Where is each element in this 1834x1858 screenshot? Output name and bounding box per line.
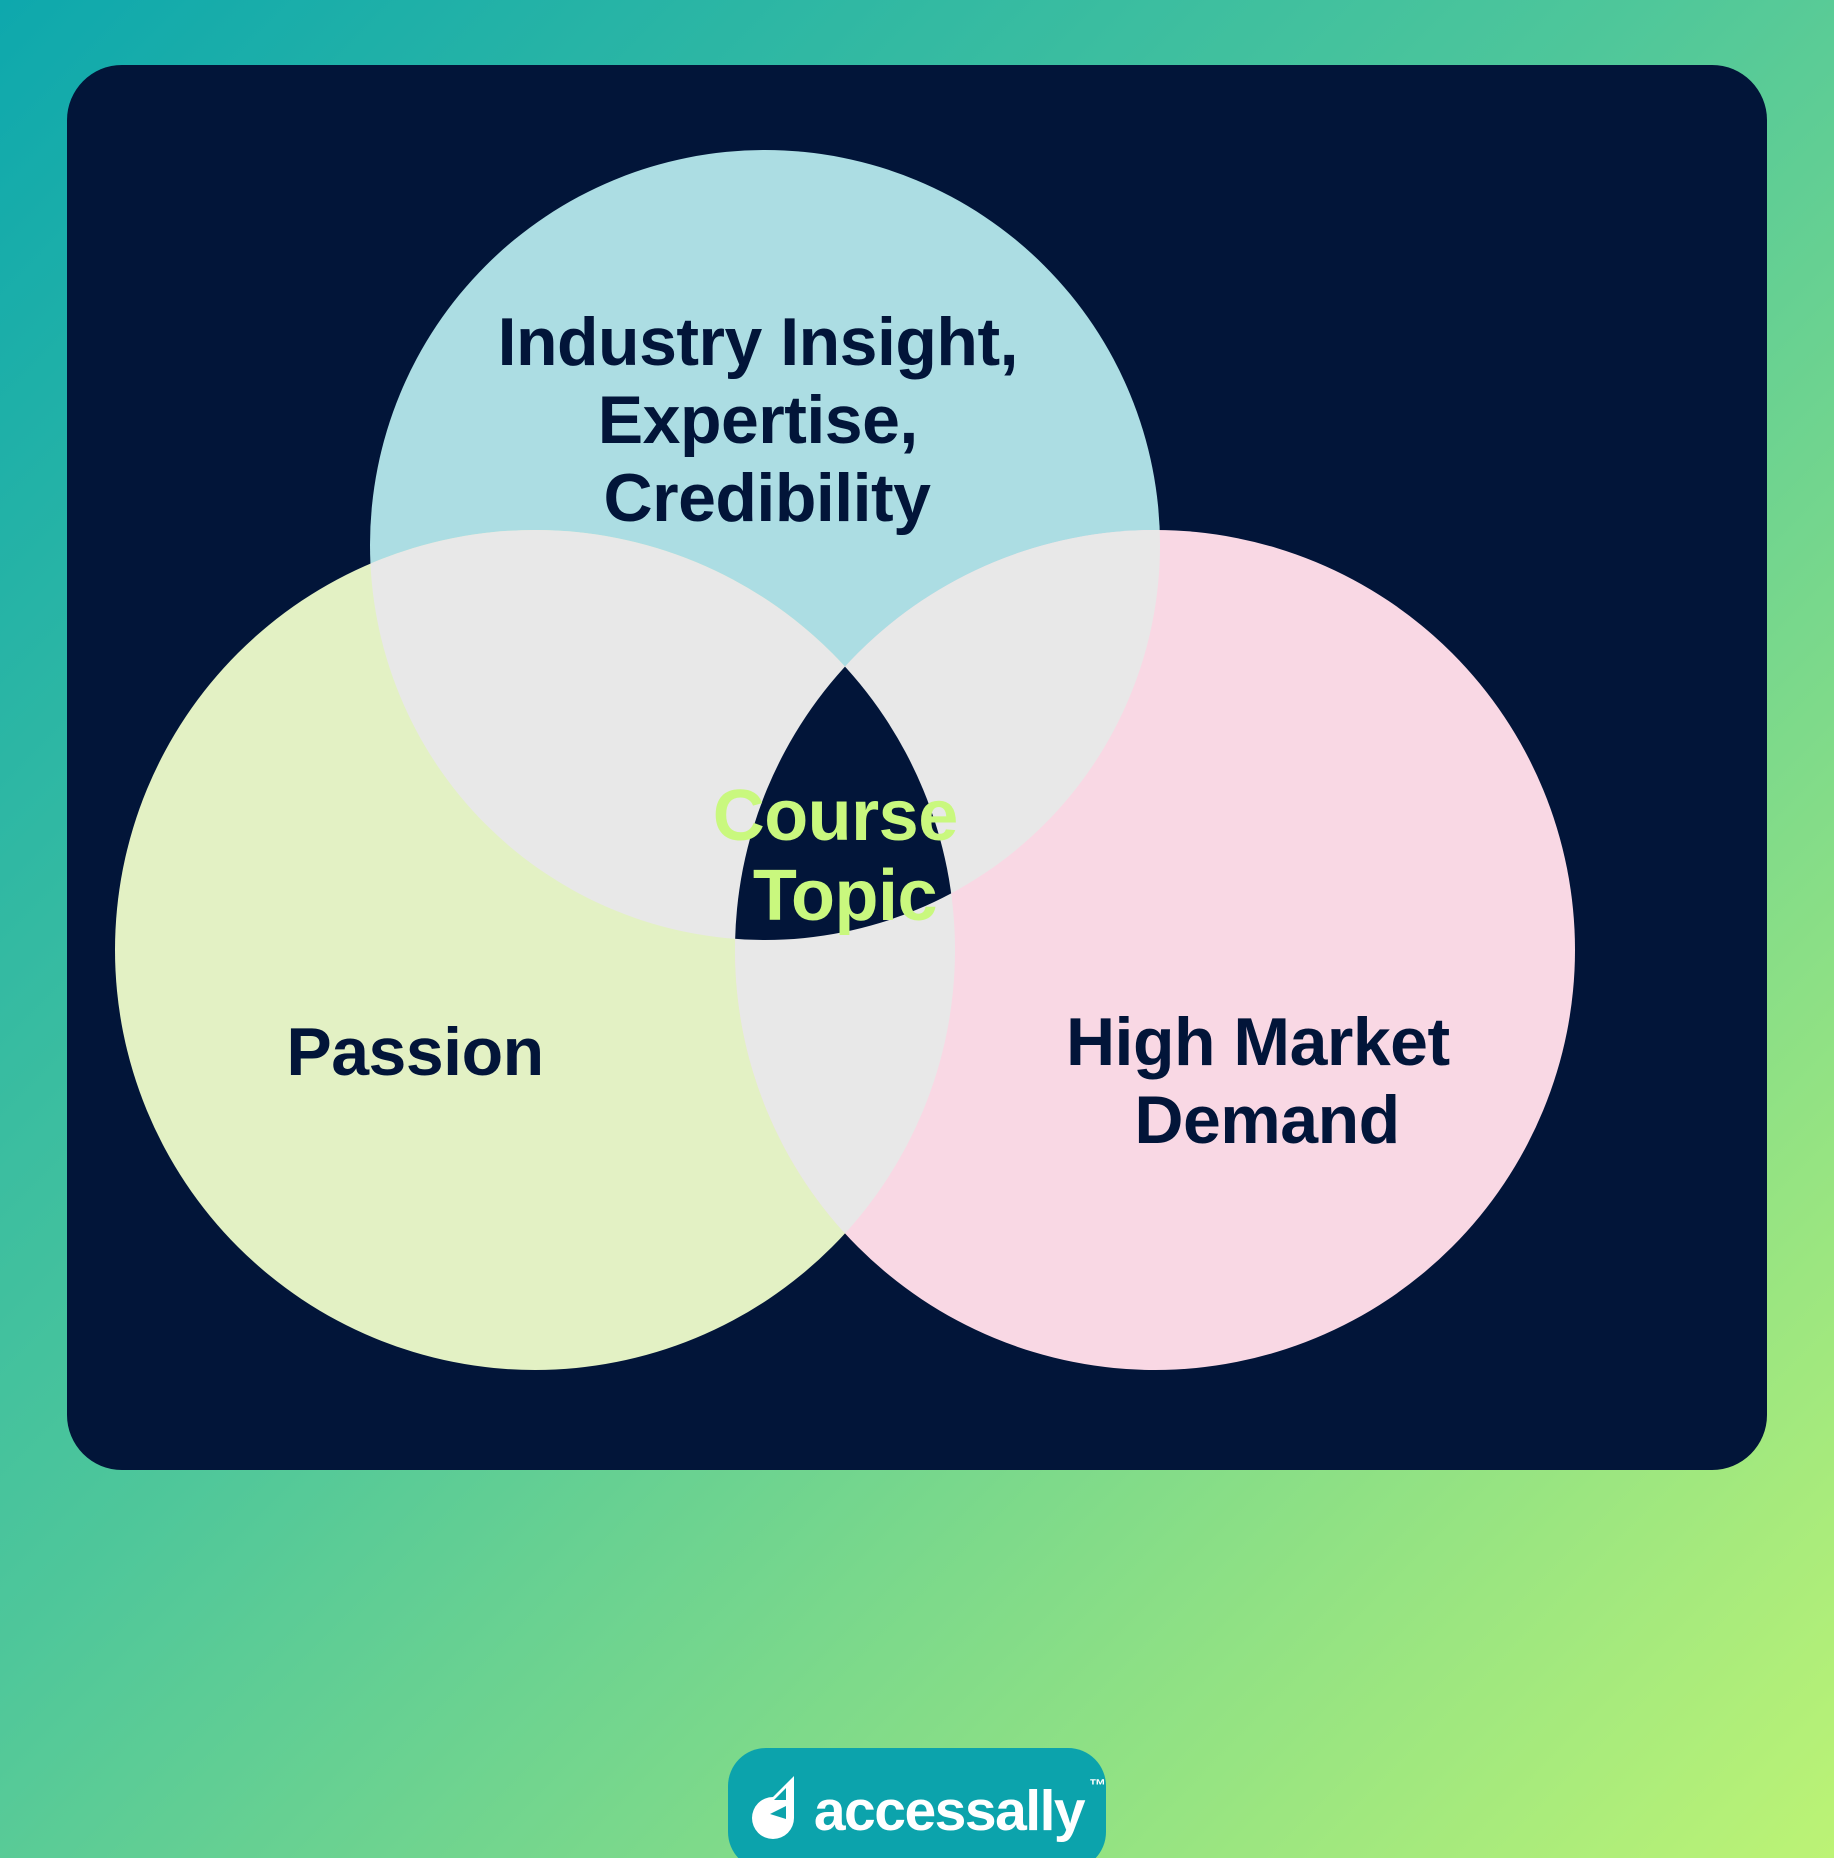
venn-infographic: Industry Insight, Expertise, Credibility… (0, 0, 1834, 1858)
label-line: Topic (753, 856, 937, 936)
label-line: Course (713, 776, 958, 856)
label-line: High Market (1066, 1004, 1450, 1080)
label-line: Industry Insight, (498, 304, 1018, 380)
venn-diagram: Industry Insight, Expertise, Credibility… (67, 65, 1767, 1470)
label-line: Demand (1134, 1082, 1399, 1158)
accessally-wordmark: accessally ™ (814, 1783, 1084, 1840)
label-passion: Passion (286, 1014, 543, 1090)
label-line: Passion (286, 1014, 543, 1090)
accessally-logo[interactable]: accessally ™ (728, 1748, 1106, 1858)
trademark-symbol: ™ (1089, 1777, 1106, 1794)
label-line: Expertise, (598, 382, 918, 458)
wordmark-text: accessally (814, 1779, 1084, 1843)
label-line: Credibility (604, 460, 932, 536)
accessally-droplet-icon (750, 1774, 804, 1840)
